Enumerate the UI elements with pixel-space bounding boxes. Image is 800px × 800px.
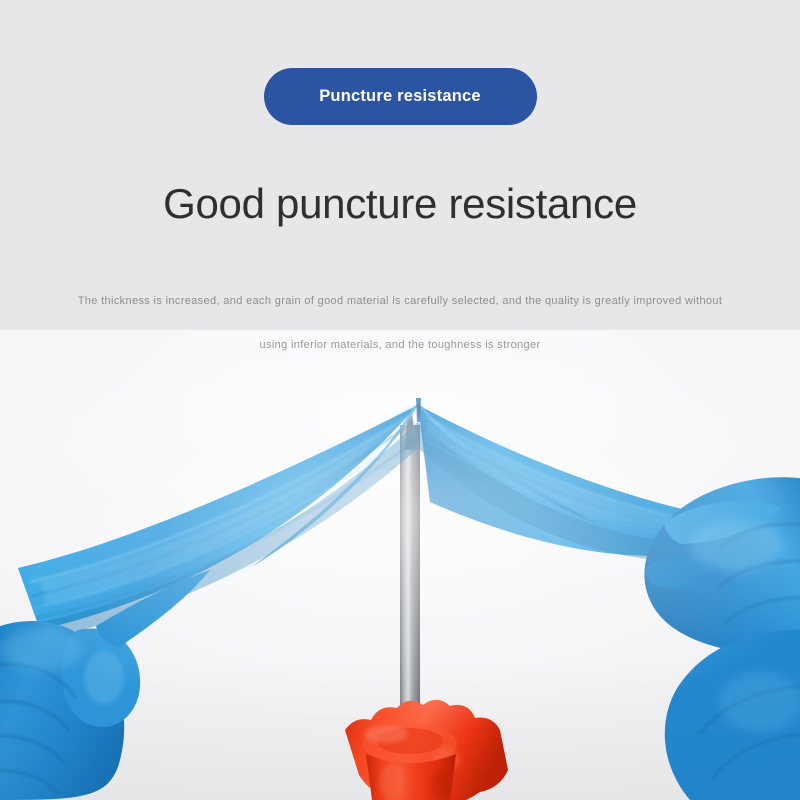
feature-description: The thickness is increased, and each gra… bbox=[0, 279, 800, 367]
product-feature-page: Puncture resistance Good puncture resist… bbox=[0, 0, 800, 800]
glove-puncture-illustration bbox=[0, 330, 800, 800]
feature-description-line-1: The thickness is increased, and each gra… bbox=[0, 279, 800, 323]
right-hand-highlight bbox=[690, 520, 782, 572]
product-photo bbox=[0, 330, 800, 800]
right-gloved-hand bbox=[644, 477, 800, 800]
badge-row: Puncture resistance bbox=[0, 68, 800, 125]
feature-description-line-2: using inferior materials, and the toughn… bbox=[0, 323, 800, 367]
right-forearm-highlight bbox=[718, 672, 800, 732]
screwdriver-handle-shadow bbox=[431, 769, 449, 800]
feature-header: Puncture resistance Good puncture resist… bbox=[0, 0, 800, 400]
page-title: Good puncture resistance bbox=[0, 180, 800, 228]
left-hand-highlight bbox=[2, 628, 82, 672]
screwdriver-handle-highlight bbox=[380, 764, 404, 800]
left-hand-knuckle-highlight bbox=[84, 652, 124, 704]
puncture-resistance-badge[interactable]: Puncture resistance bbox=[264, 68, 537, 125]
